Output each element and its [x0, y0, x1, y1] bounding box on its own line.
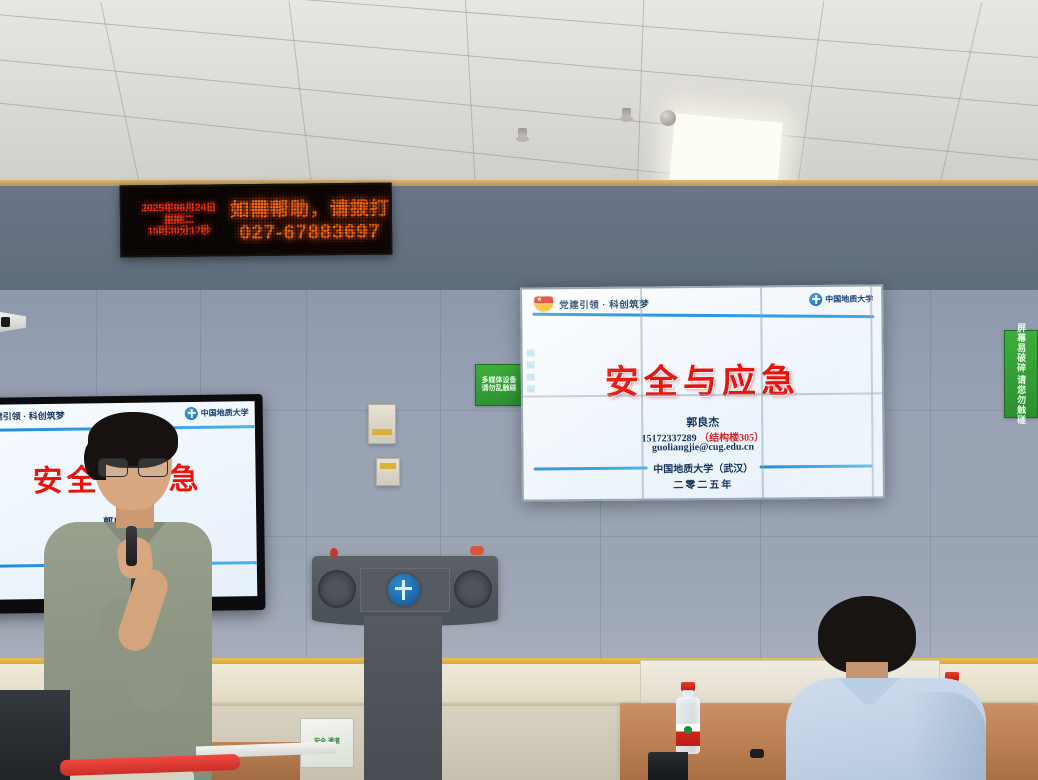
- bottle-label: [676, 724, 700, 746]
- equipment-warning-text: 多媒体设备 请勿乱触碰: [478, 377, 520, 393]
- slide-year: 二零二五年: [524, 474, 883, 492]
- sprinkler-icon: [622, 108, 631, 121]
- eyeglasses-icon: [98, 458, 172, 478]
- university-logo: 中国地质大学: [809, 293, 873, 307]
- handheld-microphone[interactable]: [126, 526, 137, 566]
- sprinkler-icon: [518, 128, 527, 141]
- attendee-shading: [910, 692, 986, 780]
- party-emblem-icon: [534, 296, 553, 311]
- slide-header-badge: 党建引领 · 科创筑梦: [559, 296, 649, 311]
- presenter-clicker[interactable]: [750, 749, 764, 758]
- audience-member: [790, 596, 1000, 780]
- led-message: 如需帮助，请拨打 027-67883697: [230, 194, 391, 246]
- ceiling-speaker-icon: [660, 110, 676, 126]
- ceiling-light-panel: [669, 113, 783, 190]
- slide-organization: 中国地质大学（武汉）: [653, 460, 753, 476]
- lectern-column: [364, 616, 442, 780]
- screen-warning-sign: 屏幕易破碎 请您勿触碰: [1004, 330, 1038, 418]
- room-scene: 2025年06月24日 星期二 15时30分17秒 如需帮助，请拨打 027-6…: [0, 0, 1038, 780]
- screen-warning-line1: 请您勿触碰: [1016, 375, 1026, 425]
- lectern-speaker-grille: [454, 570, 492, 608]
- lens-right: [138, 458, 168, 477]
- slide-rule-left: [534, 466, 648, 470]
- lectern-indicator-light: [330, 548, 338, 558]
- ceiling: [0, 0, 1038, 190]
- university-mark-icon: [809, 293, 822, 306]
- slide-header: 党建引领 · 科创筑梦: [534, 295, 649, 311]
- equipment-warning-sign: 多媒体设备 请勿乱触碰: [475, 364, 523, 406]
- university-crest-icon: [388, 574, 420, 606]
- led-message-board: 2025年06月24日 星期二 15时30分17秒 如需帮助，请拨打 027-6…: [120, 183, 393, 258]
- slide-rule-right: [759, 465, 873, 469]
- led-time: 15时30分17秒: [147, 227, 210, 238]
- av-control-panel[interactable]: [368, 404, 396, 444]
- lens-left: [98, 458, 128, 477]
- lectern-microphone[interactable]: [470, 546, 484, 555]
- power-switch-panel[interactable]: [376, 458, 400, 486]
- slide-email: guoliangjie@cug.edu.cn: [523, 440, 882, 454]
- slide-organization-row: 中国地质大学（武汉）: [534, 459, 873, 477]
- led-weekday: 星期二: [164, 215, 194, 226]
- university-logo-text: 中国地质大学: [825, 294, 873, 305]
- video-wall-display[interactable]: 党建引领 · 科创筑梦 中国地质大学 安全与应急 郭良杰 15172337289…: [520, 284, 885, 501]
- led-datetime: 2025年06月24日 星期二 15时30分17秒: [122, 204, 230, 239]
- lectern-speaker-grille: [318, 570, 356, 608]
- glasses-bridge: [128, 466, 138, 468]
- led-message-line2: 027-67883697: [240, 221, 381, 245]
- led-message-line1: 如需帮助，请拨打: [230, 194, 390, 223]
- led-date: 2025年06月24日: [142, 204, 217, 215]
- lectern-top: [312, 556, 498, 618]
- screen-warning-line2: 屏幕易破碎: [1016, 323, 1026, 373]
- slide-header-rule: [532, 313, 874, 318]
- water-bottle[interactable]: [676, 682, 700, 754]
- laptop[interactable]: [648, 752, 688, 780]
